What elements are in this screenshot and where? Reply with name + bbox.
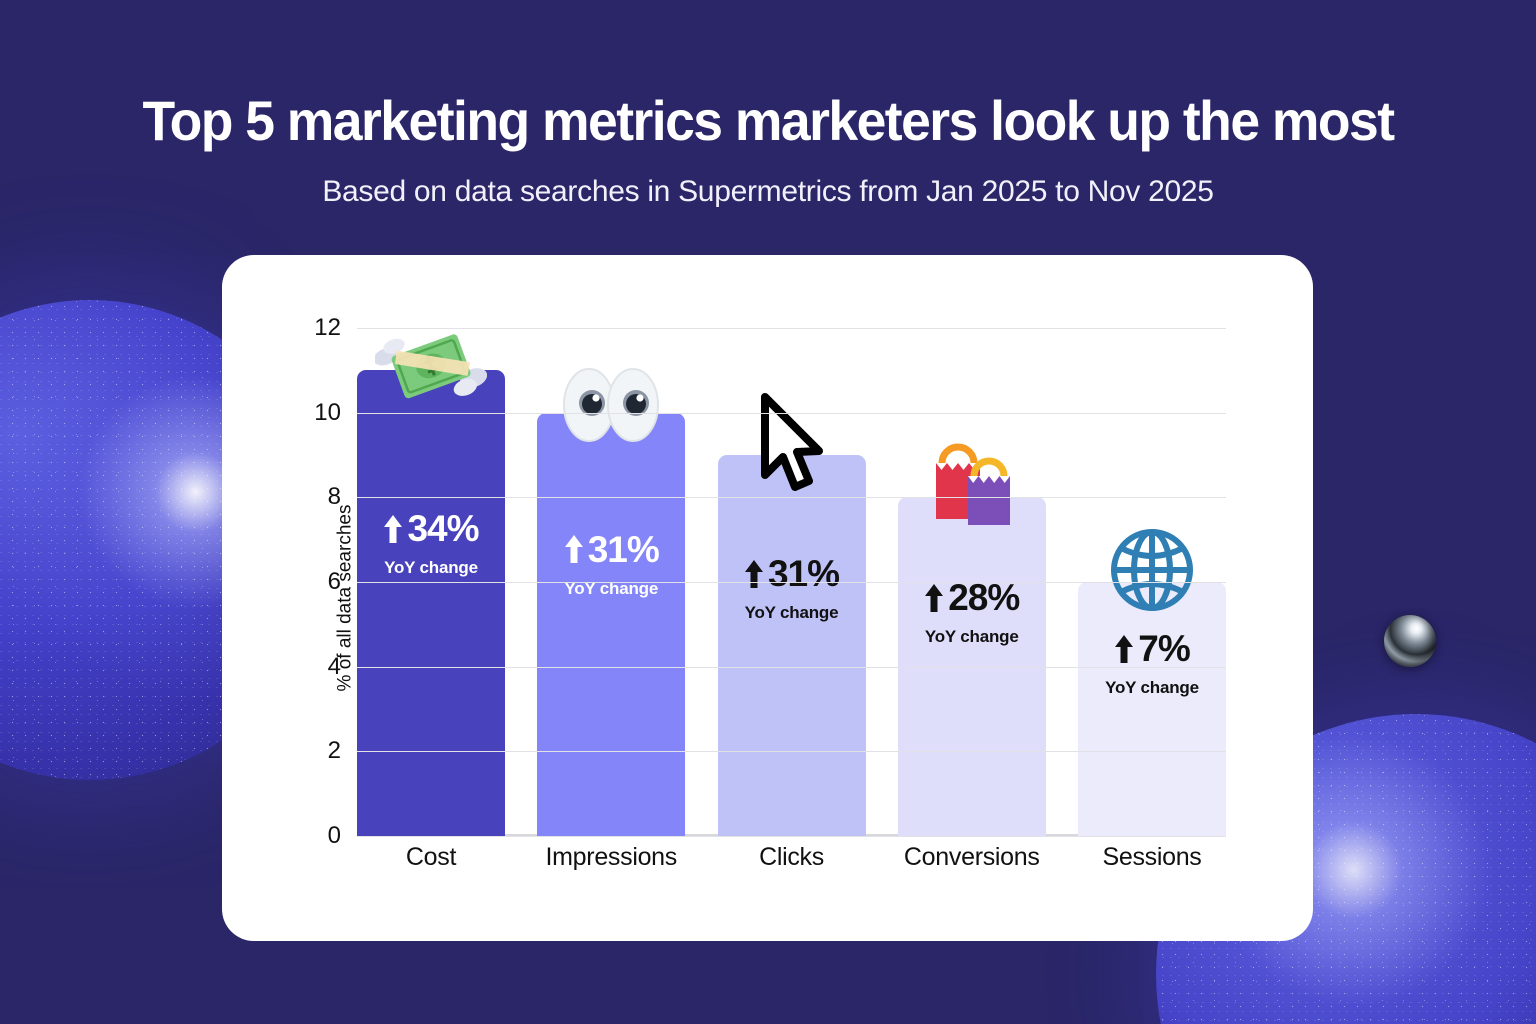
bar-annotation: 28%YoY change: [898, 579, 1046, 647]
bar-annotation: 31%YoY change: [718, 555, 866, 623]
globe-icon-wrapper: [1108, 526, 1196, 619]
plot-area: 34%YoY change31%YoY change31%YoY change2…: [357, 328, 1226, 836]
yoy-change-row: 34%: [383, 510, 478, 547]
arrow-up-icon: [744, 559, 764, 589]
arrow-up-icon: [1114, 634, 1134, 664]
arrow-up-icon: [383, 514, 403, 544]
money-with-wings-emoji: [375, 326, 487, 412]
gridline: [357, 751, 1226, 752]
bar-cost[interactable]: 34%YoY change: [357, 370, 505, 836]
page-subtitle: Based on data searches in Supermetrics f…: [0, 175, 1536, 209]
yoy-change-value: 28%: [948, 579, 1019, 616]
shopping-bags-emoji: [924, 441, 1020, 527]
yoy-change-caption: YoY change: [384, 558, 478, 578]
chrome-sphere-icon: [1384, 615, 1436, 667]
gridline: [357, 582, 1226, 583]
y-axis-tick: 6: [328, 568, 341, 596]
bar-impressions[interactable]: 31%YoY change: [537, 413, 685, 836]
yoy-change-caption: YoY change: [925, 627, 1019, 647]
shopping-bags-emoji-wrapper: [924, 441, 1020, 532]
eyes-emoji: [559, 367, 663, 443]
bar-annotation: 34%YoY change: [357, 510, 505, 578]
arrow-up-icon: [564, 534, 584, 564]
y-axis-tick: 10: [314, 399, 341, 427]
gridline: [357, 667, 1226, 668]
x-axis-label-impressions: Impressions: [537, 843, 685, 872]
y-axis-tick: 4: [328, 653, 341, 681]
yoy-change-caption: YoY change: [1105, 678, 1199, 698]
page-title: Top 5 marketing metrics marketers look u…: [35, 88, 1502, 153]
yoy-change-row: 28%: [924, 579, 1019, 616]
y-axis-tick: 0: [328, 822, 341, 850]
gridline: [357, 836, 1226, 837]
y-axis-tick: 2: [328, 737, 341, 765]
y-axis-tick: 12: [314, 314, 341, 342]
yoy-change-row: 31%: [564, 531, 659, 568]
money-with-wings-emoji-wrapper: [375, 326, 487, 417]
x-axis-label-conversions: Conversions: [898, 843, 1046, 872]
header: Top 5 marketing metrics marketers look u…: [0, 0, 1536, 209]
yoy-change-value: 31%: [768, 555, 839, 592]
yoy-change-row: 7%: [1114, 630, 1189, 667]
x-axis-labels: CostImpressionsClicksConversionsSessions: [357, 843, 1226, 872]
bar-sessions[interactable]: 7%YoY change: [1078, 582, 1226, 836]
gridline: [357, 497, 1226, 498]
x-axis-label-clicks: Clicks: [718, 843, 866, 872]
y-axis-tick: 8: [328, 483, 341, 511]
mouse-cursor-icon: [759, 393, 825, 493]
yoy-change-value: 7%: [1138, 630, 1189, 667]
bar-annotation: 7%YoY change: [1078, 630, 1226, 698]
gridline: [357, 328, 1226, 329]
x-axis-label-sessions: Sessions: [1078, 843, 1226, 872]
eyes-emoji-wrapper: [559, 367, 663, 448]
x-axis-label-cost: Cost: [357, 843, 505, 872]
bar-clicks[interactable]: 31%YoY change: [718, 455, 866, 836]
arrow-up-icon: [924, 583, 944, 613]
yoy-change-value: 31%: [588, 531, 659, 568]
chart-card: % of all data searches 34%YoY change31%Y…: [222, 255, 1313, 941]
bar-annotation: 31%YoY change: [537, 531, 685, 599]
yoy-change-value: 34%: [407, 510, 478, 547]
yoy-change-row: 31%: [744, 555, 839, 592]
globe-icon: [1108, 526, 1196, 614]
bar-chart: % of all data searches 34%YoY change31%Y…: [222, 255, 1313, 941]
yoy-change-caption: YoY change: [745, 603, 839, 623]
gridline: [357, 413, 1226, 414]
mouse-cursor-icon-wrapper: [759, 393, 825, 498]
